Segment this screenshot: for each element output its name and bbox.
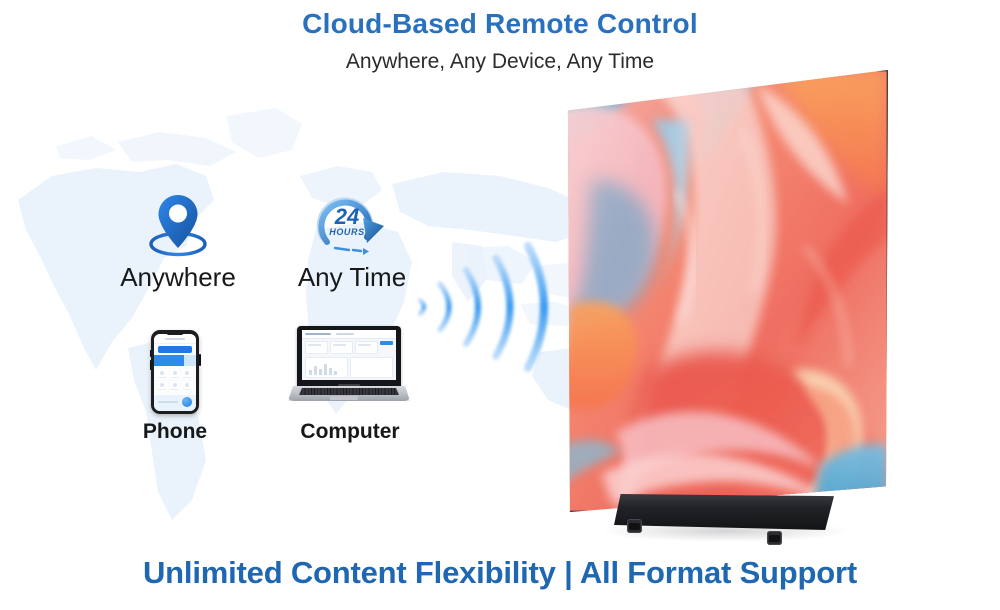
wireless-signal-waves-icon (412, 232, 572, 382)
24-hours-clock-icon: 24 HOURS (307, 186, 397, 262)
laptop-screen (302, 330, 396, 380)
feature-label-computer: Computer (276, 420, 424, 444)
phone-primary-bar (158, 346, 192, 353)
smartphone-icon (151, 330, 199, 414)
display-artwork (556, 70, 888, 512)
laptop-trackpad (330, 396, 358, 400)
svg-text:24: 24 (334, 204, 359, 229)
laptop-lid (297, 326, 401, 388)
phone-footer-panel (154, 395, 196, 411)
dashboard-panel-row (302, 356, 396, 379)
dashboard-card (355, 341, 378, 354)
dashboard-card (305, 341, 328, 354)
phone-notch (167, 332, 183, 335)
feature-label-any-time: Any Time (278, 262, 426, 293)
phone-grid-cell (182, 369, 193, 379)
phone-grid-cell (157, 369, 168, 379)
dashboard-topbar (302, 330, 396, 339)
feature-label-anywhere: Anywhere (105, 262, 251, 293)
phone-grid-cell (157, 381, 168, 391)
phone-grid-cell (170, 369, 181, 379)
poster-canvas: Cloud-Based Remote Control Anywhere, Any… (0, 0, 1000, 610)
phone-volume-button (150, 360, 152, 370)
rolling-stand-icon (614, 494, 834, 530)
svg-text:HOURS: HOURS (329, 227, 365, 237)
stand-caster-right (767, 531, 782, 545)
phone-app-header (154, 334, 196, 344)
dashboard-card (330, 341, 353, 354)
laptop-icon (288, 326, 410, 406)
phone-power-button (199, 354, 201, 366)
footer-banner: Unlimited Content Flexibility | All Form… (0, 555, 1000, 591)
location-pin-icon (140, 186, 216, 262)
display-glare (556, 70, 888, 512)
large-format-display-icon (556, 70, 888, 512)
page-title: Cloud-Based Remote Control (0, 8, 1000, 40)
dashboard-bars (309, 363, 337, 375)
phone-footer-line (158, 401, 178, 403)
dashboard-button (380, 341, 393, 345)
phone-action-button (182, 397, 192, 407)
phone-grid-cell (182, 381, 193, 391)
dashboard-stat-row (302, 339, 396, 356)
feature-label-phone: Phone (110, 420, 240, 444)
dashboard-action-row (302, 379, 396, 380)
phone-grid-cell (170, 381, 181, 391)
stand-caster-left (627, 519, 642, 533)
phone-highlight-row (154, 355, 196, 366)
phone-side-button (150, 350, 152, 357)
dashboard-chart-panel (305, 357, 348, 378)
phone-screen (154, 334, 196, 411)
page-subtitle: Anywhere, Any Device, Any Time (0, 50, 1000, 74)
laptop-keyboard (299, 388, 399, 395)
phone-icon-grid (157, 369, 193, 391)
dashboard-list-panel (350, 357, 393, 378)
